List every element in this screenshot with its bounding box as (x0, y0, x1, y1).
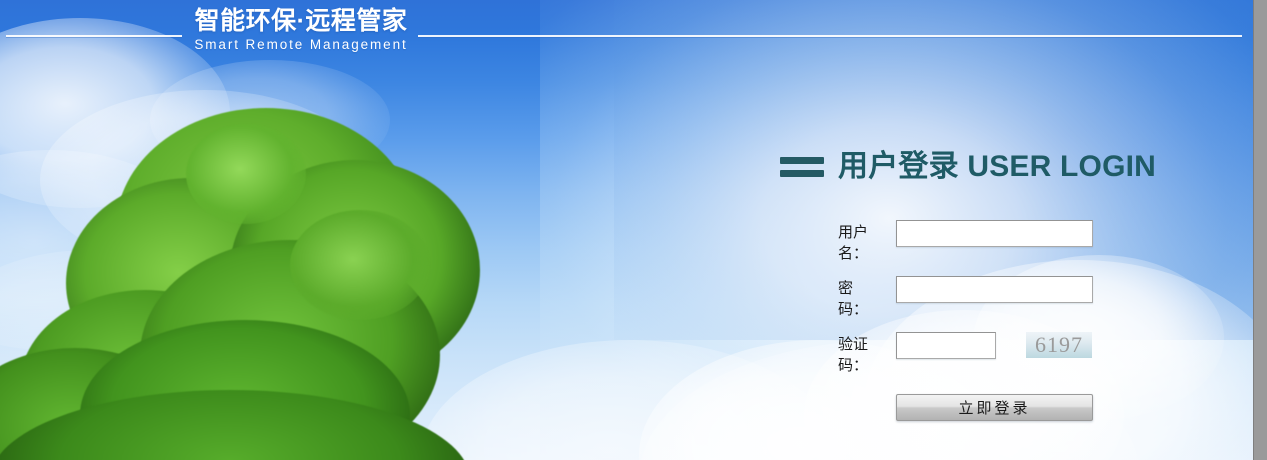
header-rule-left-icon (6, 35, 182, 37)
page-header: 智能环保·远程管家 Smart Remote Management (0, 0, 1254, 64)
password-label: 密 码： (838, 276, 896, 320)
password-input[interactable] (896, 276, 1093, 303)
form-row-captcha: 验证码： 6197 (838, 332, 1170, 376)
cloud-decoration (150, 60, 390, 180)
form-row-password: 密 码： (838, 276, 1170, 320)
login-submit-button[interactable]: 立即登录 (896, 394, 1093, 421)
page-viewport: 智能环保·远程管家 Smart Remote Management 用户登录 U… (0, 0, 1254, 460)
submit-spacer (838, 394, 896, 396)
equals-bars-icon (780, 157, 824, 177)
username-input[interactable] (896, 220, 1093, 247)
captcha-input[interactable] (896, 332, 996, 359)
login-page-screenshot: 智能环保·远程管家 Smart Remote Management 用户登录 U… (0, 0, 1267, 460)
brand-title-cn: 智能环保·远程管家 (185, 6, 417, 36)
brand-block: 智能环保·远程管家 Smart Remote Management (185, 6, 417, 54)
form-row-submit: 立即登录 (838, 394, 1170, 421)
captcha-label: 验证码： (838, 332, 896, 376)
right-scrollbar-gutter[interactable] (1253, 0, 1267, 460)
username-label: 用户名： (838, 220, 896, 264)
form-row-username: 用户名： (838, 220, 1170, 264)
brand-subtitle-en: Smart Remote Management (185, 36, 417, 54)
header-rule-right-icon (418, 35, 1242, 37)
captcha-image[interactable]: 6197 (1026, 332, 1092, 358)
login-title-text: 用户登录 USER LOGIN (838, 150, 1156, 184)
login-form: 用户名： 密 码： 验证码： 6197 立即登录 (838, 220, 1170, 421)
login-title: 用户登录 USER LOGIN (780, 150, 1170, 184)
login-panel: 用户登录 USER LOGIN 用户名： 密 码： 验证码： 6197 (770, 150, 1170, 433)
